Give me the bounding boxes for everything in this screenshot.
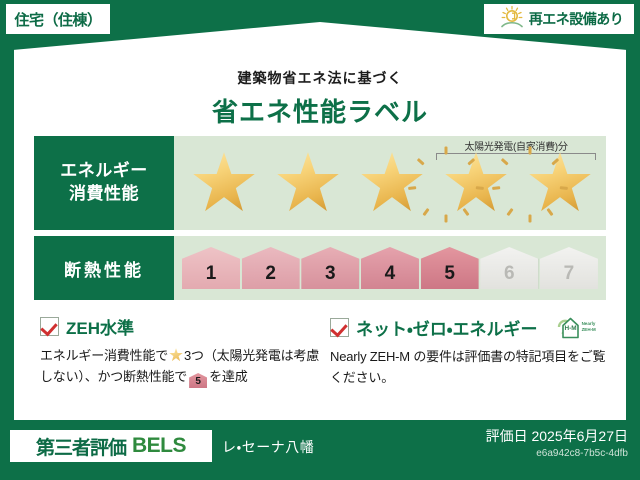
- renewable-equipment-label: 再エネ設備あり: [529, 9, 624, 29]
- insulation-grade-scale: 1 2 3 4 5 6 7: [180, 236, 600, 300]
- star-dash: [445, 215, 448, 223]
- star-dash: [529, 215, 532, 223]
- note-nze-header: ネット・ゼロ・エネルギー H-M Nearly ZEH-M: [330, 314, 612, 340]
- note-zeh-text-3: を達成: [209, 369, 247, 384]
- star-icon: [360, 151, 424, 215]
- energy-label-line2: 消費性能: [69, 183, 139, 206]
- note-zeh-text-1: エネルギー消費性能で: [40, 348, 168, 363]
- star-icon: [169, 348, 183, 362]
- star-dash: [529, 147, 532, 155]
- svg-text:H-M: H-M: [564, 325, 576, 332]
- evaluation-date: 評価日 2025年6月27日: [486, 426, 628, 446]
- note-nze-title: ネット・ゼロ・エネルギー: [356, 315, 538, 340]
- zeh-m-sub-line2: ZEH-M: [582, 327, 596, 332]
- energy-performance-label: エネルギー 消費性能: [34, 136, 174, 230]
- sun-solar-icon: [499, 5, 525, 34]
- grade-badge-1: 1: [182, 247, 240, 289]
- building-type-chip: 住宅（住棟）: [6, 4, 110, 34]
- grade-badge-2: 2: [242, 247, 300, 289]
- title-main: 省エネ性能ラベル: [14, 92, 626, 129]
- grade-badge-5: 5: [421, 247, 479, 289]
- star-icon: [192, 151, 256, 215]
- grade-badge-6: 6: [480, 247, 538, 289]
- star-icon: [276, 151, 340, 215]
- note-net-zero-energy: ネット・ゼロ・エネルギー H-M Nearly ZEH-M Nearly ZEH…: [330, 314, 612, 388]
- building-name: レ・セーナ八幡: [222, 437, 314, 457]
- star-rating: [182, 136, 602, 230]
- grade-badge-7: 7: [540, 247, 598, 289]
- energy-label-line1: エネルギー: [60, 160, 148, 183]
- bels-jp-label: 第三者評価: [36, 433, 126, 460]
- energy-performance-body: 太陽光発電(自家消費)分: [174, 136, 606, 230]
- evaluation-id: e6a942c8-7b5c-4dfb: [536, 448, 628, 459]
- grade-badge-inline: 5: [189, 373, 207, 388]
- star-2: [271, 146, 345, 220]
- zeh-m-sub-line1: Nearly: [582, 321, 596, 326]
- note-zeh-header: ZEH水準: [40, 314, 322, 339]
- star-5-solar: [523, 146, 597, 220]
- note-nze-body: Nearly ZEH-M の要件は評価書の特記項目をご覧ください。: [330, 346, 612, 388]
- star-dash: [546, 208, 553, 216]
- bels-en-label: BELS: [132, 434, 186, 458]
- star-dash: [445, 147, 448, 155]
- footer: 第三者評価 BELS レ・セーナ八幡 評価日 2025年6月27日 e6a942…: [0, 420, 640, 480]
- title-block: 建築物省エネ法に基づく 省エネ性能ラベル: [14, 68, 626, 129]
- title-subtitle: 建築物省エネ法に基づく: [14, 68, 626, 88]
- insulation-performance-row: 断熱性能 1 2 3 4 5 6 7: [34, 236, 606, 300]
- star-icon: [444, 151, 508, 215]
- building-type-label: 住宅（住棟）: [14, 9, 101, 30]
- grade-badge-3: 3: [301, 247, 359, 289]
- check-icon: [330, 318, 349, 337]
- renewable-equipment-chip: 再エネ設備あり: [484, 4, 634, 34]
- zeh-m-house-logo: H-M Nearly ZEH-M: [547, 314, 596, 340]
- note-zeh-body: エネルギー消費性能で3つ（太陽光発電は考慮しない）、かつ断熱性能で5を達成: [40, 345, 322, 388]
- label-card: 建築物省エネ法に基づく 省エネ性能ラベル エネルギー 消費性能 太陽光発電(自家…: [14, 22, 626, 420]
- star-dash: [462, 208, 469, 216]
- grade-badge-4: 4: [361, 247, 419, 289]
- check-icon: [40, 317, 59, 336]
- insulation-performance-body: 1 2 3 4 5 6 7: [174, 236, 606, 300]
- star-icon: [528, 151, 592, 215]
- note-zeh-title: ZEH水準: [66, 314, 134, 339]
- insulation-performance-label: 断熱性能: [34, 236, 174, 300]
- bels-badge: 第三者評価 BELS: [10, 430, 212, 462]
- energy-performance-row: エネルギー 消費性能 太陽光発電(自家消費)分: [34, 136, 606, 230]
- energy-label-root: 住宅（住棟） 再エネ設備あり 建築物省エネ: [0, 0, 640, 480]
- zeh-m-logo-subtext: Nearly ZEH-M: [582, 321, 596, 332]
- note-zeh: ZEH水準 エネルギー消費性能で3つ（太陽光発電は考慮しない）、かつ断熱性能で5…: [40, 314, 322, 388]
- star-1: [187, 146, 261, 220]
